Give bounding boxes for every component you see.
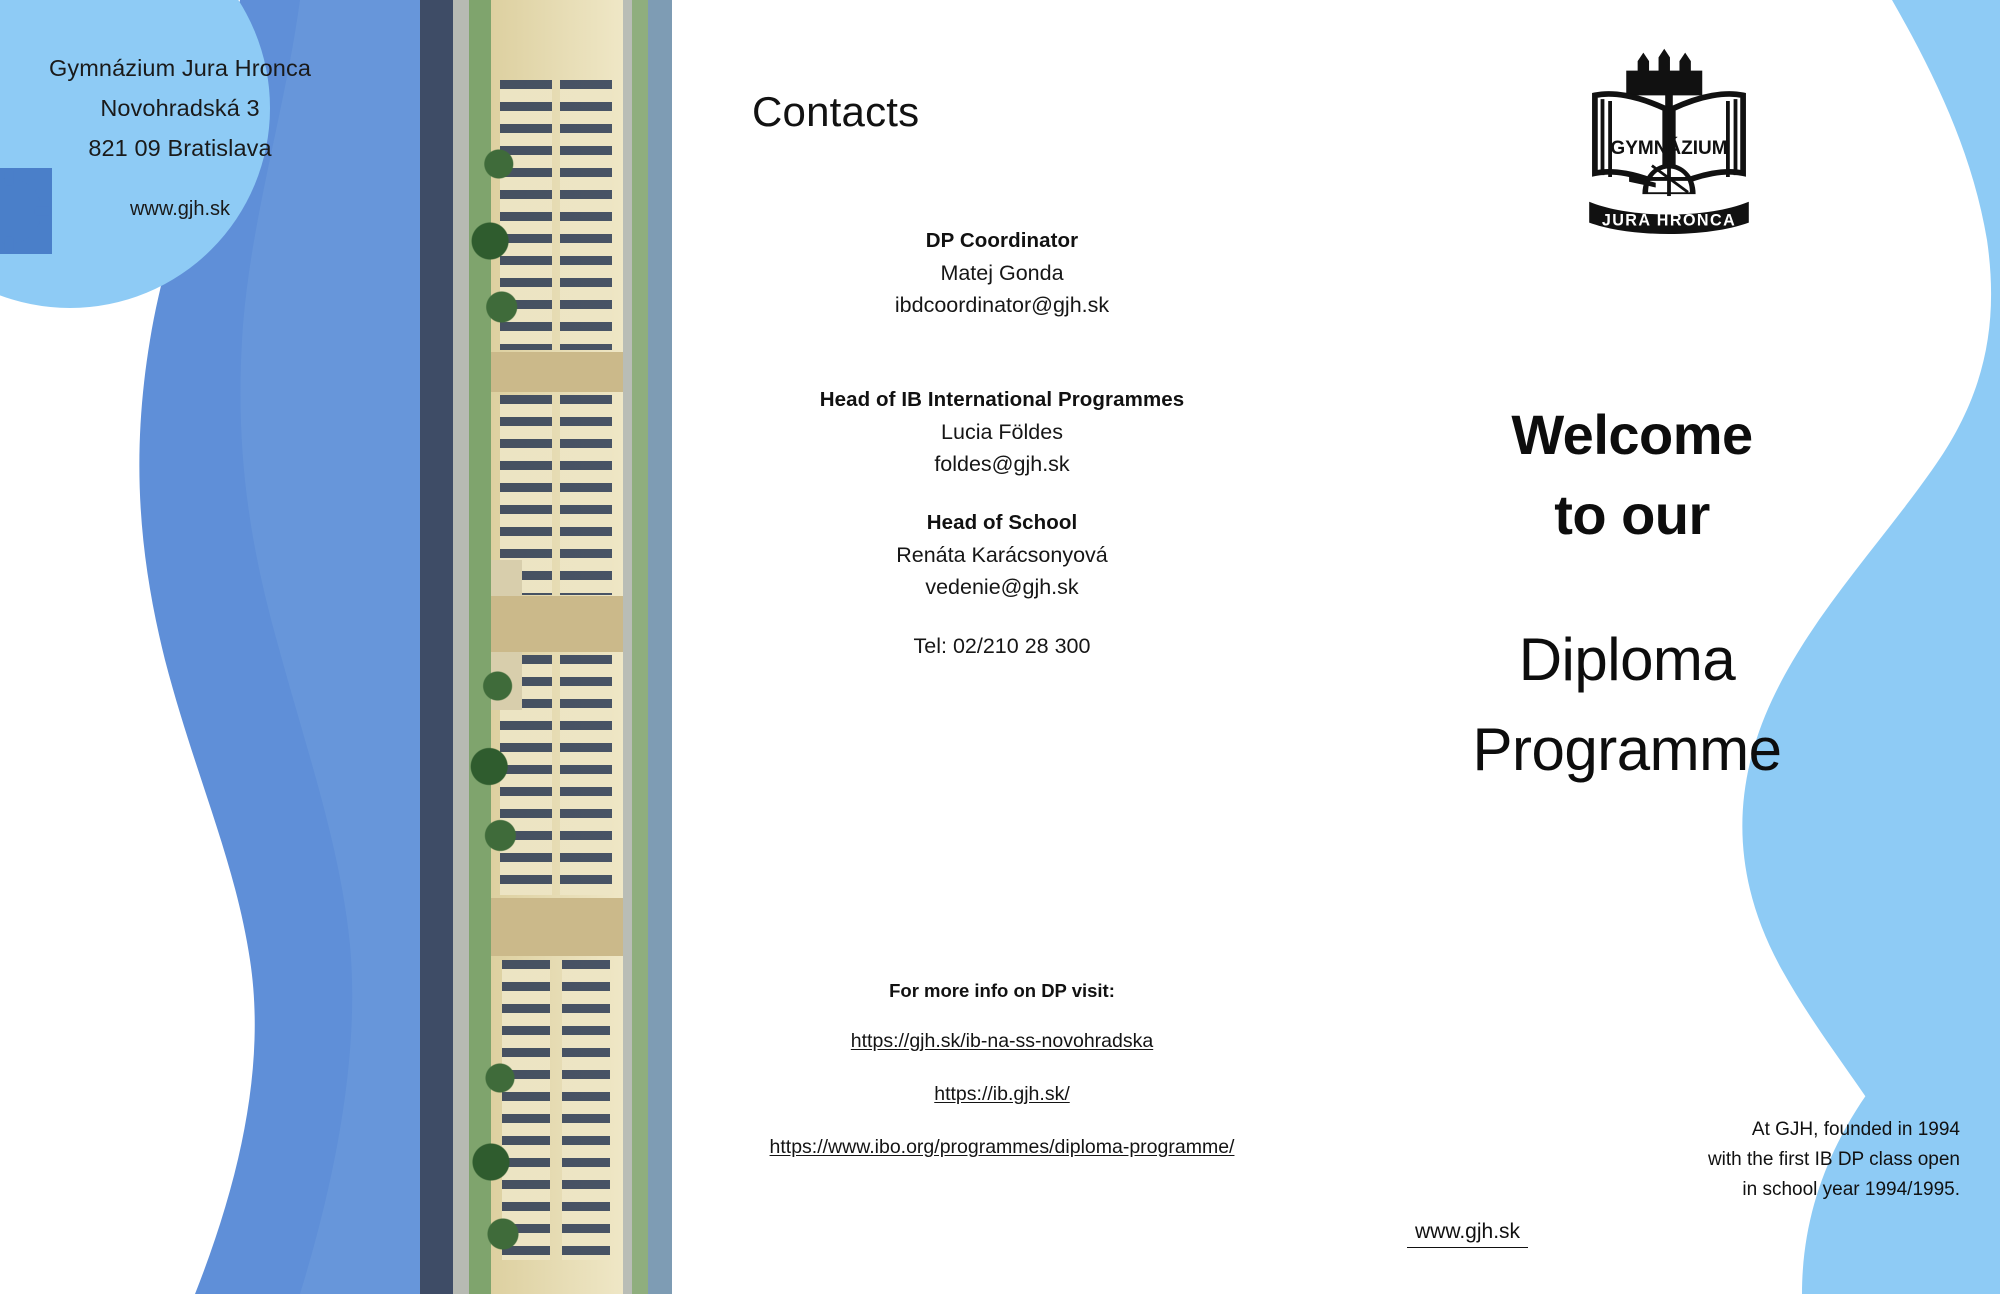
crest-sextant-icon <box>1629 162 1696 196</box>
school-name: Gymnázium Jura Hronca <box>0 48 360 88</box>
contact-email[interactable]: foldes@gjh.sk <box>672 448 1332 480</box>
dp-link-row: https://gjh.sk/ib-na-ss-novohradska <box>672 1030 1332 1053</box>
spacer <box>672 603 1332 630</box>
dp-link-gjh[interactable]: https://gjh.sk/ib-na-ss-novohradska <box>851 1030 1153 1052</box>
crest-castle-icon <box>1626 49 1702 96</box>
founded-line-1: At GJH, founded in 1994 <box>1540 1115 1960 1145</box>
front-cover-title: Diploma Programme <box>1332 615 1922 795</box>
contact-phone[interactable]: Tel: 02/210 28 300 <box>672 630 1332 662</box>
dp-link-row: https://ib.gjh.sk/ <box>672 1083 1332 1106</box>
back-cover-website[interactable]: www.gjh.sk <box>0 198 360 221</box>
panel-front-cover: GYMNÁZIUM JURA HRONCA Welcome to our Dip… <box>1332 0 2000 1294</box>
contacts-list: DP Coordinator Matej Gonda ibdcoordinato… <box>672 225 1332 662</box>
contact-entry-head-ib: Head of IB International Programmes Luci… <box>672 384 1332 480</box>
school-building-photo <box>420 0 672 1294</box>
contact-name: Matej Gonda <box>672 257 1332 289</box>
front-cover-welcome: Welcome to our <box>1332 395 1932 555</box>
school-building-photo-image <box>420 0 672 1294</box>
school-city: 821 09 Bratislava <box>0 128 360 168</box>
crest-banner-text: JURA HRONCA <box>1602 211 1736 229</box>
contact-email[interactable]: ibdcoordinator@gjh.sk <box>672 289 1332 321</box>
contact-name: Renáta Karácsonyová <box>672 539 1332 571</box>
spacer <box>672 480 1332 507</box>
school-crest-logo: GYMNÁZIUM JURA HRONCA <box>1574 42 1764 237</box>
school-street: Novohradská 3 <box>0 88 360 128</box>
founded-line-3: in school year 1994/1995. <box>1540 1175 1960 1205</box>
dp-link-ibo[interactable]: https://www.ibo.org/programmes/diploma-p… <box>770 1136 1235 1158</box>
title-line-2: Programme <box>1332 705 1922 795</box>
crest-gymnazium-text: GYMNÁZIUM <box>1610 137 1727 159</box>
spacer <box>672 321 1332 384</box>
back-cover-address-block: Gymnázium Jura Hronca Novohradská 3 821 … <box>0 48 360 221</box>
contact-role: DP Coordinator <box>672 225 1332 257</box>
contact-name: Lucia Földes <box>672 416 1332 448</box>
founded-note: At GJH, founded in 1994 with the first I… <box>1540 1115 1960 1205</box>
welcome-line-1: Welcome <box>1332 395 1932 475</box>
panel-contacts: Contacts DP Coordinator Matej Gonda ibdc… <box>672 0 1332 1294</box>
founded-line-2: with the first IB DP class open <box>1540 1145 1960 1175</box>
contact-role: Head of School <box>672 507 1332 539</box>
dp-link-row: https://www.ibo.org/programmes/diploma-p… <box>672 1134 1332 1161</box>
contact-entry-head-school: Head of School Renáta Karácsonyová veden… <box>672 507 1332 603</box>
contacts-heading: Contacts <box>752 88 919 136</box>
front-cover-website[interactable]: www.gjh.sk <box>1407 1220 1528 1248</box>
panel-back-cover: Gymnázium Jura Hronca Novohradská 3 821 … <box>0 0 672 1294</box>
contact-entry-coordinator: DP Coordinator Matej Gonda ibdcoordinato… <box>672 225 1332 321</box>
welcome-line-2: to our <box>1332 475 1932 555</box>
brochure-page: Gymnázium Jura Hronca Novohradská 3 821 … <box>0 0 2000 1294</box>
title-line-1: Diploma <box>1332 615 1922 705</box>
contact-role: Head of IB International Programmes <box>672 384 1332 416</box>
dp-link-ib-gjh[interactable]: https://ib.gjh.sk/ <box>934 1083 1069 1105</box>
contact-email[interactable]: vedenie@gjh.sk <box>672 571 1332 603</box>
links-heading: For more info on DP visit: <box>672 980 1332 1002</box>
